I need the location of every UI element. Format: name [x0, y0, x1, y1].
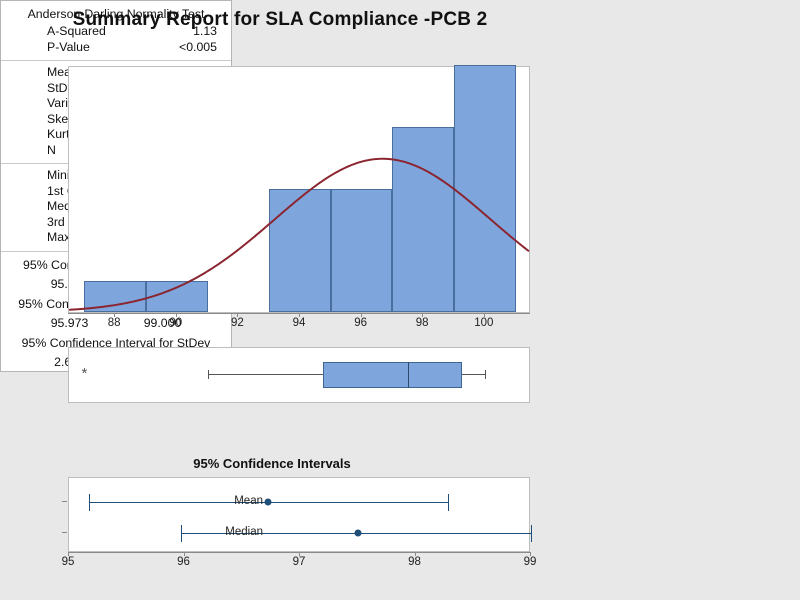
boxplot-box [323, 362, 462, 388]
ci-lower-cap [181, 525, 182, 542]
axis-tick-label: 96 [177, 556, 190, 568]
axis-tick-label: 97 [293, 556, 306, 568]
ci-row-tick [62, 501, 67, 502]
summary-report: Summary Report for SLA Compliance -PCB 2… [0, 0, 800, 600]
confidence-interval-panel [68, 477, 530, 552]
axis-tick-label: 98 [408, 556, 421, 568]
axis-tick-label: 88 [108, 317, 121, 329]
ci-row-label: Mean [234, 495, 263, 507]
ci-row-tick [62, 532, 67, 533]
stat-label: P-Value [47, 40, 139, 56]
ci-point-marker [265, 499, 272, 506]
axis-tick-label: 99 [524, 556, 537, 568]
boxplot-upper-cap [485, 370, 486, 379]
stat-value: <0.005 [139, 40, 217, 56]
boxplot-lower-cap [208, 370, 209, 379]
page-title: Summary Report for SLA Compliance -PCB 2 [0, 9, 560, 31]
axis-tick-label: 98 [416, 317, 429, 329]
normal-fit-curve [69, 67, 529, 312]
boxplot-upper-whisker [462, 374, 485, 375]
boxplot-graphic: * [69, 348, 529, 402]
ci-lower-cap [89, 494, 90, 511]
axis-tick-label: 92 [231, 317, 244, 329]
ci-row-label: Median [225, 526, 263, 538]
ci-x-axis: 9596979899 [68, 552, 530, 576]
ci-point-marker [354, 530, 361, 537]
axis-tick-label: 100 [474, 317, 493, 329]
histogram-panel [68, 66, 530, 313]
boxplot-median-line [408, 362, 409, 388]
confidence-interval-graphic [69, 478, 529, 551]
axis-tick-label: 94 [293, 317, 306, 329]
ci-chart-title: 95% Confidence Intervals [14, 456, 530, 471]
boxplot-lower-whisker [208, 374, 324, 375]
histogram-x-axis: 889092949698100 [68, 313, 530, 337]
boxplot-outlier: * [81, 366, 87, 381]
axis-tick-label: 96 [354, 317, 367, 329]
ci-upper-cap [448, 494, 449, 511]
axis-tick-label: 95 [62, 556, 75, 568]
boxplot-panel: * [68, 347, 530, 403]
stat-row: P-Value<0.005 [1, 40, 231, 56]
ci-upper-cap [531, 525, 532, 542]
axis-tick-label: 90 [169, 317, 182, 329]
